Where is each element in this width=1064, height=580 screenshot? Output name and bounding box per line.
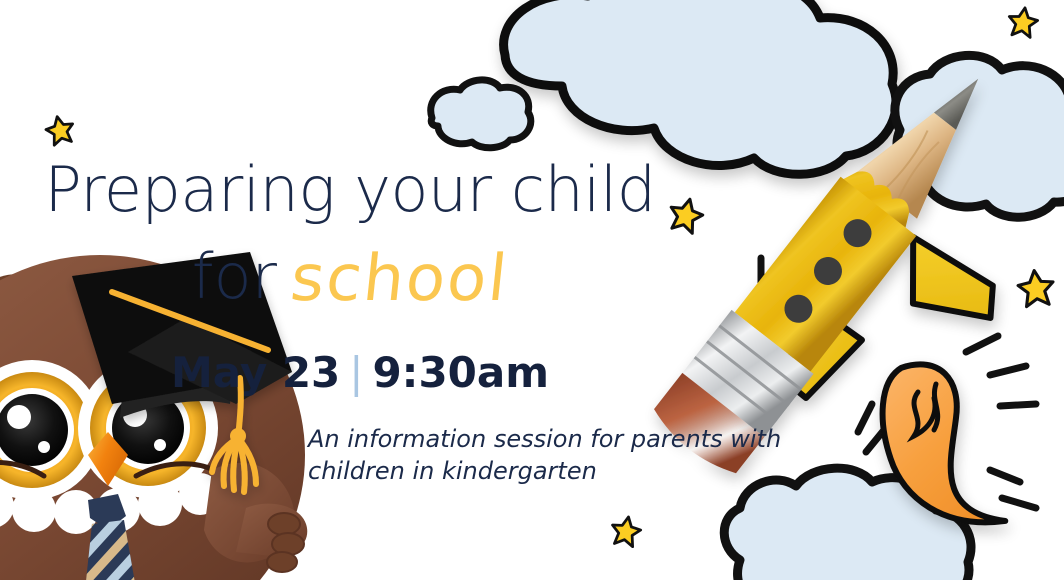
subtitle-line-1: An information session for parents with (308, 425, 781, 453)
headline-line-1: Preparing your child (40, 158, 660, 222)
headline-for-word: for (192, 240, 277, 313)
datetime-divider: | (340, 348, 372, 397)
headline-line-2: forschool (40, 245, 660, 313)
event-datetime: May 23|9:30am (40, 348, 680, 397)
event-time: 9:30am (372, 348, 549, 397)
banner-text: Preparing your child forschool May 23|9:… (0, 0, 1064, 580)
promo-banner: Preparing your child forschool May 23|9:… (0, 0, 1064, 580)
headline-school-word: school (288, 247, 512, 313)
event-date: May 23 (171, 348, 340, 397)
event-subtitle: An information session for parents with … (308, 424, 808, 488)
subtitle-line-2: children in kindergarten (308, 457, 597, 485)
